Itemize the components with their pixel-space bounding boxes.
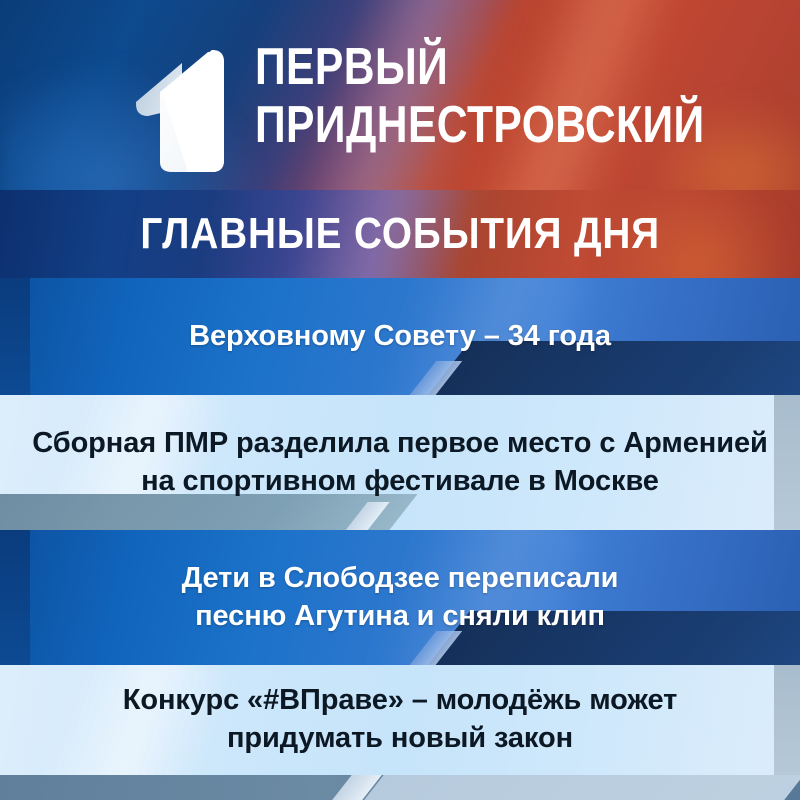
news-item-1-text: Верховному Совету – 34 года — [0, 278, 800, 395]
channel-logo-icon — [128, 46, 238, 176]
brand-line-1: ПЕРВЫЙ — [255, 42, 665, 92]
brand-name: ПЕРВЫЙ ПРИДНЕСТРОВСКИЙ — [255, 42, 755, 151]
news-item-2-text: Сборная ПМР разделила первое место с Арм… — [0, 395, 800, 530]
news-line: на спортивном фестивале в Москве — [141, 463, 659, 501]
news-line: придумать новый закон — [227, 720, 573, 758]
news-line: Сборная ПМР разделила первое место с Арм… — [32, 425, 767, 463]
section-title-bar: ГЛАВНЫЕ СОБЫТИЯ ДНЯ — [0, 190, 800, 278]
footer-diagonal-accent — [352, 775, 800, 800]
news-line: песню Агутина и сняли клип — [195, 598, 605, 636]
news-item-3-text: Дети в Слободзее переписали песню Агутин… — [0, 530, 800, 665]
brand-line-2: ПРИДНЕСТРОВСКИЙ — [255, 100, 665, 150]
news-line: Дети в Слободзее переписали — [182, 560, 619, 598]
news-digest-card: ПЕРВЫЙ ПРИДНЕСТРОВСКИЙ ГЛАВНЫЕ СОБЫТИЯ Д… — [0, 0, 800, 800]
header-banner: ПЕРВЫЙ ПРИДНЕСТРОВСКИЙ — [0, 0, 800, 190]
page-title-text: ГЛАВНЫЕ СОБЫТИЯ ДНЯ — [140, 209, 660, 259]
news-item-2[interactable]: Сборная ПМР разделила первое место с Арм… — [0, 395, 800, 530]
news-item-1[interactable]: Верховному Совету – 34 года — [0, 278, 800, 395]
news-item-4-text: Конкурс «#ВПраве» – молодёжь может приду… — [0, 665, 800, 775]
news-item-3[interactable]: Дети в Слободзее переписали песню Агутин… — [0, 530, 800, 665]
footer-bar — [0, 775, 800, 800]
news-line: Конкурс «#ВПраве» – молодёжь может — [123, 682, 677, 720]
page-title: ГЛАВНЫЕ СОБЫТИЯ ДНЯ — [0, 190, 800, 278]
news-line: Верховному Совету – 34 года — [189, 318, 611, 356]
news-item-4[interactable]: Конкурс «#ВПраве» – молодёжь может приду… — [0, 665, 800, 775]
